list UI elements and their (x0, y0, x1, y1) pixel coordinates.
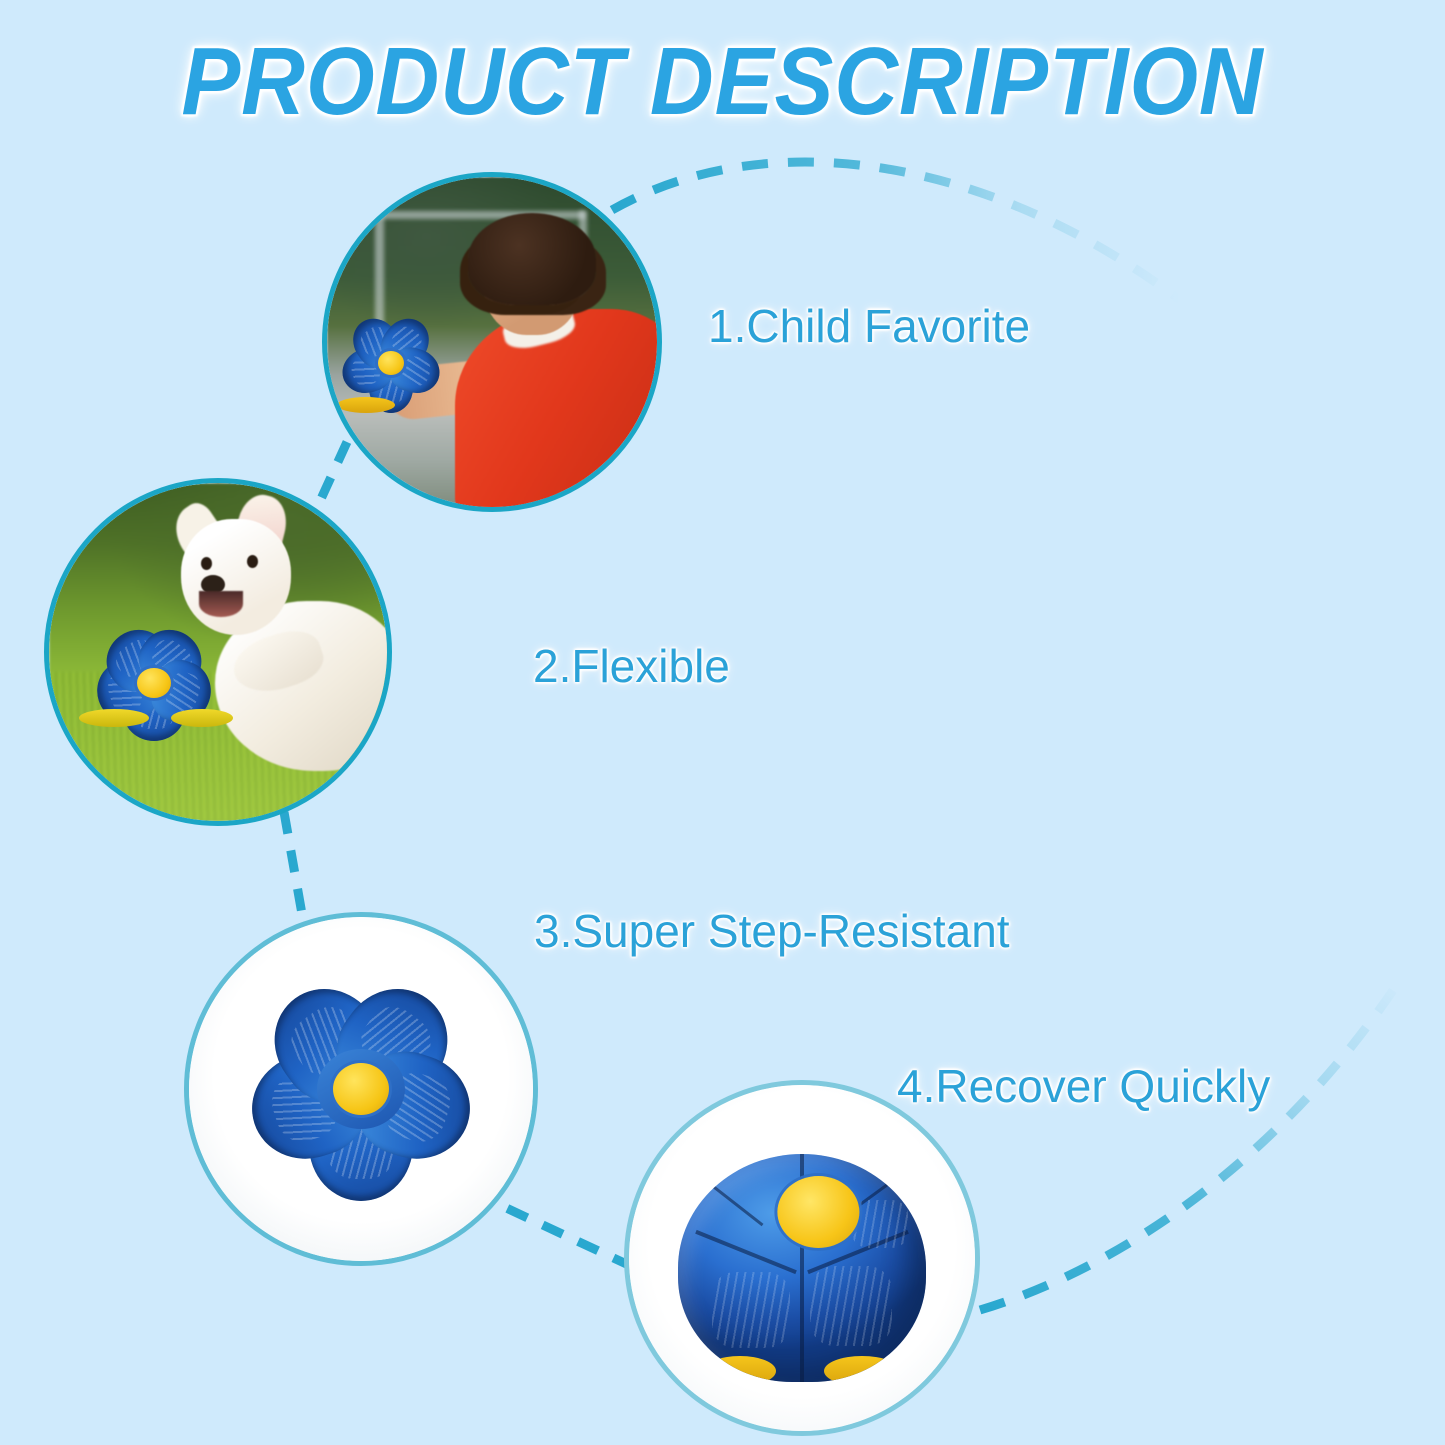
product-dome (678, 1154, 926, 1382)
feature-label-3: 3.Super Step-Resistant (534, 908, 1010, 954)
dog-eye-left (201, 557, 212, 570)
dome-foot-right (824, 1356, 900, 1382)
feature-image-child-favorite (322, 172, 662, 512)
dome-texture-right (810, 1266, 892, 1346)
product-yellow-rim-left (79, 709, 149, 727)
decorative-arc-top (612, 162, 1180, 300)
feature-image-flexible (44, 478, 392, 826)
product-center-hub (333, 1063, 389, 1115)
product-disc-flat-grass (69, 643, 239, 723)
dog-head (181, 519, 291, 635)
dome-foot-left (704, 1356, 776, 1382)
product-yellow-rim (337, 397, 395, 413)
dome-seam-upper-left (706, 1181, 763, 1226)
boy-hair (468, 213, 596, 305)
feature-label-2: 2.Flexible (533, 643, 730, 689)
dome-seam-left (695, 1230, 797, 1274)
photo-flat-disc (189, 917, 533, 1261)
product-yellow-rim-right (171, 709, 233, 727)
feature-image-recover-quickly (624, 1080, 980, 1436)
product-center-hub (777, 1176, 859, 1248)
product-disc-small (331, 311, 451, 415)
dog-mouth (199, 591, 243, 617)
dog-eye-right (247, 555, 258, 568)
feature-label-1: 1.Child Favorite (708, 303, 1030, 349)
dome-texture-top-right (852, 1200, 908, 1248)
photo-dog-with-disc (49, 483, 387, 821)
decorative-arc-bottom (980, 980, 1400, 1310)
photo-boy-with-ball (327, 177, 657, 507)
infographic-canvas: PRODUCT DESCRIPTION (0, 0, 1445, 1445)
photo-dome-ball (629, 1085, 975, 1431)
page-title: PRODUCT DESCRIPTION (58, 34, 1387, 130)
product-center-hub (378, 351, 404, 375)
feature-label-4: 4.Recover Quickly (897, 1063, 1270, 1109)
dome-texture-left (712, 1272, 790, 1348)
feature-image-step-resistant (184, 912, 538, 1266)
product-center-hub (137, 668, 171, 698)
